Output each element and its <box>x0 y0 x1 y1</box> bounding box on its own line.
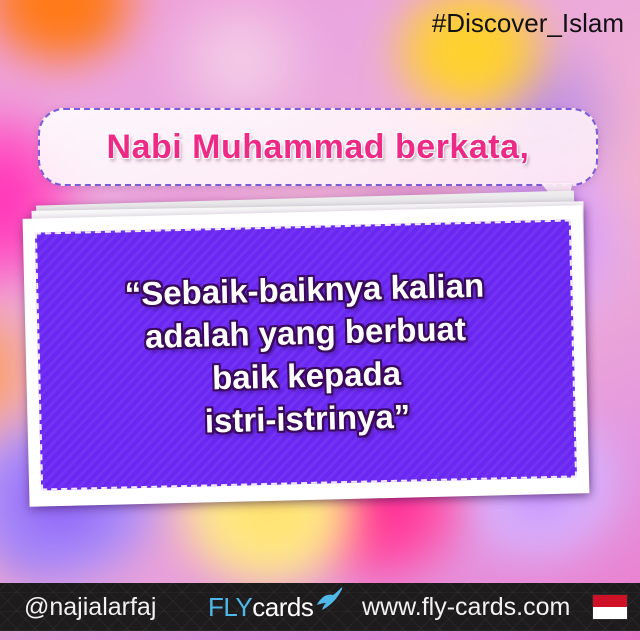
quote-panel: “Sebaik-baiknya kalian adalah yang berbu… <box>35 219 577 490</box>
quote-line-4: istri-istrinya” <box>204 395 410 443</box>
speech-bubble-text: Nabi Muhammad berkata, <box>107 128 530 167</box>
flag-stripe-white <box>593 607 627 619</box>
logo-text-cards: cards <box>252 592 313 623</box>
logo-text-fly: FLY <box>208 592 252 623</box>
website-url[interactable]: www.fly-cards.com <box>362 593 570 622</box>
author-handle: @najialarfaj <box>24 593 156 622</box>
bird-icon <box>315 586 345 617</box>
flag-stripe-red <box>593 595 627 607</box>
indonesia-flag-icon <box>592 594 628 620</box>
speech-bubble: Nabi Muhammad berkata, <box>38 108 598 186</box>
poster-canvas: #Discover_Islam Nabi Muhammad berkata, “… <box>0 0 640 640</box>
hashtag-label: #Discover_Islam <box>432 8 624 39</box>
quote-card: “Sebaik-baiknya kalian adalah yang berbu… <box>23 205 590 507</box>
quote-line-3: baik kepada <box>212 353 402 400</box>
quote-line-2: adalah yang berbuat <box>145 308 467 359</box>
flycards-logo[interactable]: FLY cards <box>208 592 345 623</box>
footer-bar: @najialarfaj FLY cards www.fly-cards.com <box>0 583 640 631</box>
